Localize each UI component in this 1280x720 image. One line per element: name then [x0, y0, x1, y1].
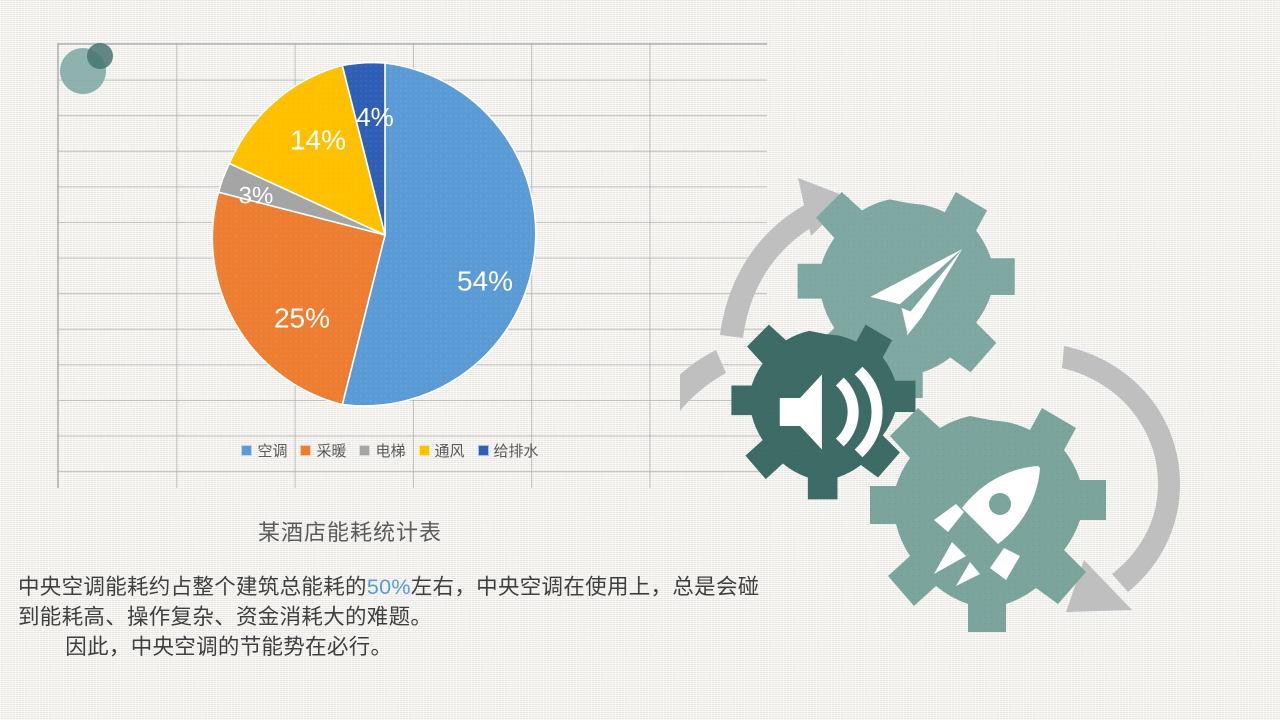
gears-illustration — [680, 150, 1280, 670]
legend-swatch-jipaishui — [478, 445, 489, 456]
arrow-down-left-icon — [680, 350, 726, 522]
pie-label-tongfeng: 14% — [290, 124, 346, 155]
legend-item-tongfeng[interactable]: 通风 — [419, 440, 465, 461]
gear-rocket — [870, 408, 1106, 632]
pie-chart-svg: 54% 25% 3% 14% 4% — [165, 35, 615, 475]
legend-swatch-tongfeng — [419, 445, 430, 456]
pie-label-dianti: 3% — [239, 182, 274, 209]
pie-label-kongtiao: 54% — [457, 265, 513, 296]
pie-label-jipaishui: 4% — [356, 102, 394, 132]
legend-label-kongtiao: 空调 — [257, 440, 287, 461]
body-line-1-part-a: 中央空调能耗约占整个建筑总能耗的 — [18, 575, 367, 599]
legend-item-cainuan[interactable]: 采暖 — [300, 440, 346, 461]
chart-caption: 某酒店能耗统计表 — [0, 515, 700, 547]
legend-item-jipaishui[interactable]: 给排水 — [478, 440, 539, 461]
logo-small-circle — [87, 43, 113, 69]
legend-swatch-cainuan — [300, 445, 311, 456]
legend-label-cainuan: 采暖 — [316, 440, 346, 461]
legend-swatch-dianti — [359, 445, 370, 456]
circle-logo-mark — [60, 43, 114, 95]
legend-label-dianti: 电梯 — [375, 440, 405, 461]
legend-label-tongfeng: 通风 — [435, 440, 465, 461]
slide-canvas: 54% 25% 3% 14% 4% 空调 采暖 电梯 通风 给排水 某酒店 — [0, 0, 1280, 720]
pie-label-cainuan: 25% — [274, 302, 330, 333]
legend-item-dianti[interactable]: 电梯 — [359, 440, 405, 461]
body-highlight-50-percent: 50% — [367, 575, 411, 599]
legend-item-kongtiao[interactable]: 空调 — [241, 440, 287, 461]
pie-chart: 54% 25% 3% 14% 4% — [165, 35, 615, 475]
gears-svg — [680, 150, 1280, 670]
legend-swatch-kongtiao — [241, 445, 252, 456]
pie-chart-legend: 空调 采暖 电梯 通风 给排水 — [165, 440, 615, 461]
legend-label-jipaishui: 给排水 — [494, 440, 539, 461]
